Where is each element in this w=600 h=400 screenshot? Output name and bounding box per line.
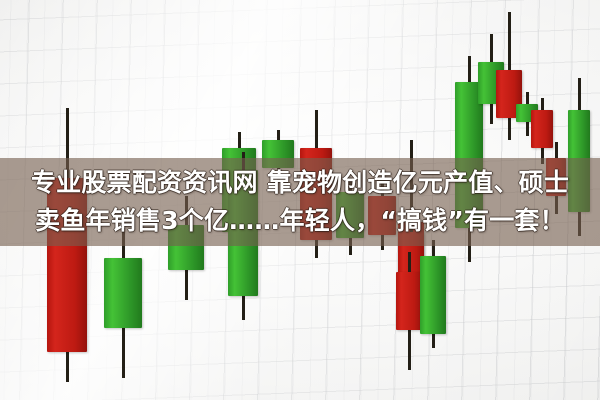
candle-body-bullish xyxy=(420,256,446,334)
headline-line-2: 卖鱼年销售3个亿……年轻人，“搞钱”有一套！ xyxy=(35,203,565,239)
banner-image: 专业股票配资资讯网 靠宠物创造亿元产值、硕士 卖鱼年销售3个亿……年轻人，“搞钱… xyxy=(0,0,600,400)
headline-line-1: 专业股票配资资讯网 靠宠物创造亿元产值、硕士 xyxy=(31,165,569,201)
headline-overlay-band: 专业股票配资资讯网 靠宠物创造亿元产值、硕士 卖鱼年销售3个亿……年轻人，“搞钱… xyxy=(0,158,600,246)
candle-body-bearish xyxy=(396,272,422,330)
candle-body-bullish xyxy=(104,258,142,328)
